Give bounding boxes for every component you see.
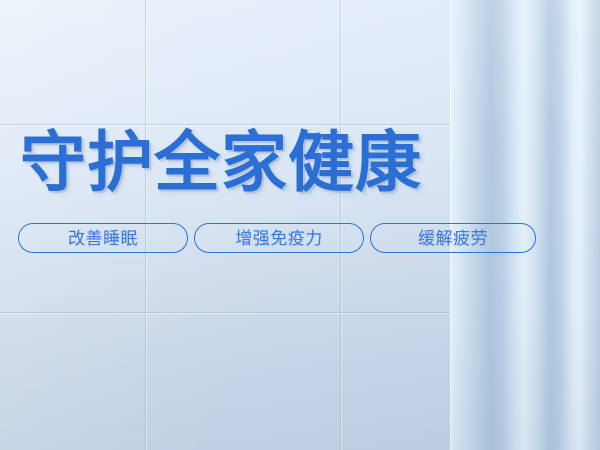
benefit-tag-list: 改善睡眠 增强免疫力 缓解疲劳 — [18, 223, 536, 253]
health-banner-poster: 守护全家健康 改善睡眠 增强免疫力 缓解疲劳 — [0, 0, 600, 450]
benefit-tag-relieve-fatigue[interactable]: 缓解疲劳 — [370, 223, 536, 253]
page-title: 守护全家健康 — [20, 124, 440, 200]
benefit-tag-boost-immunity[interactable]: 增强免疫力 — [194, 223, 364, 253]
benefit-tag-improve-sleep[interactable]: 改善睡眠 — [18, 223, 188, 253]
